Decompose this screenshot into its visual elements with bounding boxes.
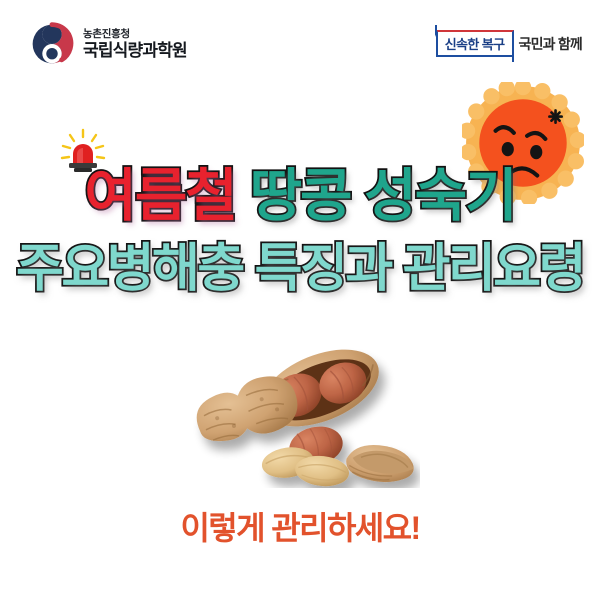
peanut-graphic [188,332,420,488]
peanut-cluster-illustration [188,332,420,488]
agency-main-name: 국립식량과학원 [83,42,187,59]
agency-logo-text: 농촌진흥청 국립식량과학원 [83,29,187,60]
cta-text: 이렇게 관리하세요! [0,503,600,549]
title-line-1: 여름철 땅콩 성숙기 [0,168,600,225]
campaign-slogan: 신속한 복구 국민과 함께 [436,30,582,57]
poster-canvas: 농촌진흥청 국립식량과학원 신속한 복구 국민과 함께 [0,0,600,600]
taegeuk-icon [30,22,74,66]
title-subtitle: 주요병해충 특징과 관리요령 [16,240,584,298]
title-line-2: 주요병해충 특징과 관리요령 [0,243,600,295]
slogan-tail-text: 국민과 함께 [519,34,583,54]
title-season: 여름철 [84,164,235,228]
agency-logo: 농촌진흥청 국립식량과학원 [30,22,187,66]
agency-sub-name: 농촌진흥청 [83,29,187,40]
slogan-badge: 신속한 복구 [436,30,514,57]
title-crop-stage: 땅콩 성숙기 [250,164,516,228]
